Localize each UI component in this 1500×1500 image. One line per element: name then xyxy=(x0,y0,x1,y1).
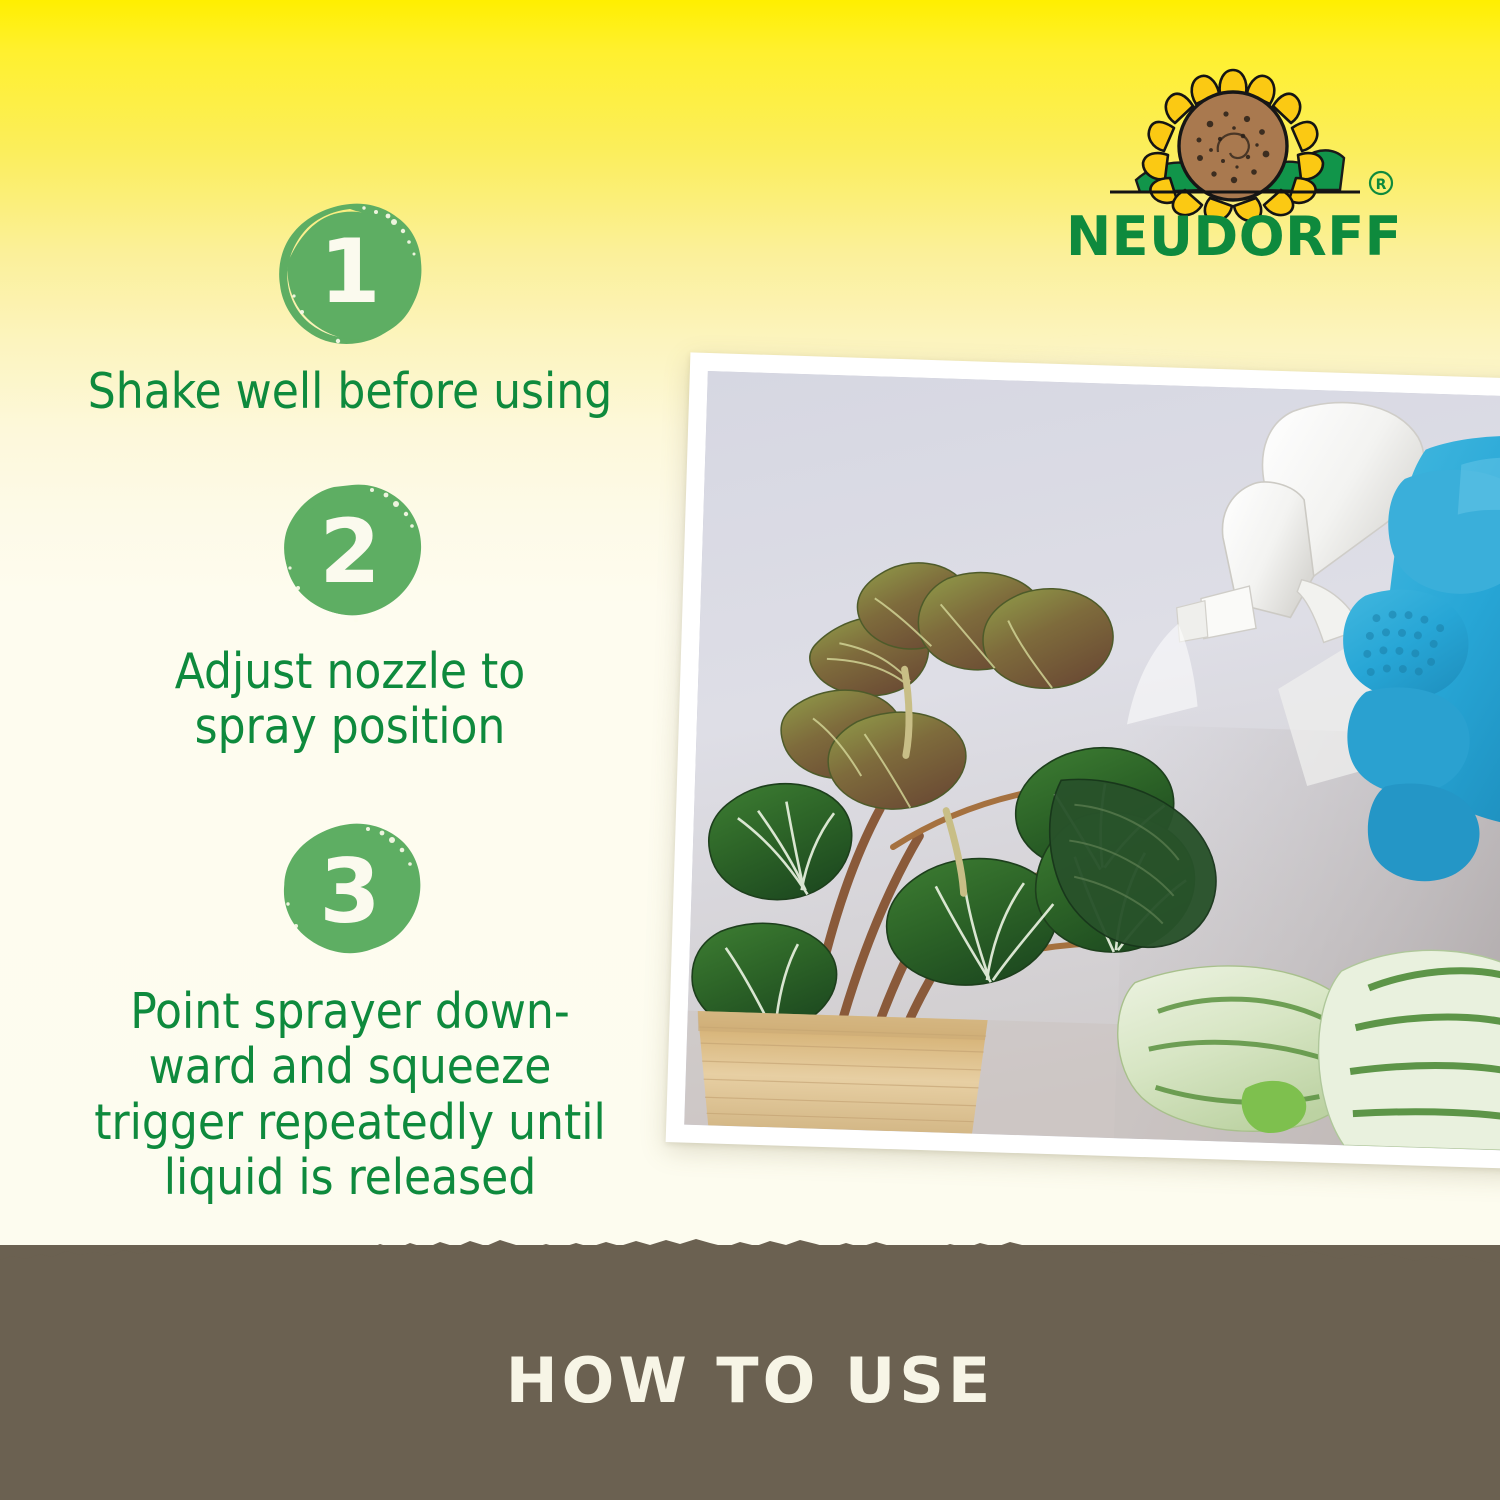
photo-frame xyxy=(666,352,1500,1169)
step-badge-2: 2 xyxy=(276,480,424,628)
step-text-2: Adjust nozzle to spray position xyxy=(0,644,700,755)
step-text-3: Point sprayer down- ward and squeeze tri… xyxy=(0,984,700,1205)
wooden-pot xyxy=(694,1011,987,1134)
step-item-2: 2 Adjust nozzle to spray position xyxy=(0,480,700,755)
step-number-1: 1 xyxy=(276,200,424,348)
step-item-3: 3 Point sprayer down- ward and squeeze t… xyxy=(0,820,700,1205)
step-item-1: 1 Shake well before using xyxy=(0,200,700,419)
how-to-use-infographic: R NEUDORFF 1 xyxy=(0,0,1500,1500)
step-number-2: 2 xyxy=(276,480,424,628)
sunflower-seed-disc xyxy=(1179,92,1287,200)
step-text-1: Shake well before using xyxy=(0,364,700,419)
brand-wordmark: NEUDORFF xyxy=(1066,205,1402,262)
step-badge-3: 3 xyxy=(276,820,424,968)
svg-text:R: R xyxy=(1376,177,1387,193)
product-photo xyxy=(666,352,1500,1169)
step-number-3: 3 xyxy=(276,820,424,968)
photo-image xyxy=(684,371,1500,1151)
registered-mark-icon: R xyxy=(1370,172,1392,194)
neudorff-logo: R NEUDORFF xyxy=(1048,62,1418,262)
banner-title: HOW TO USE xyxy=(0,1350,1500,1412)
step-badge-1: 1 xyxy=(276,200,424,348)
